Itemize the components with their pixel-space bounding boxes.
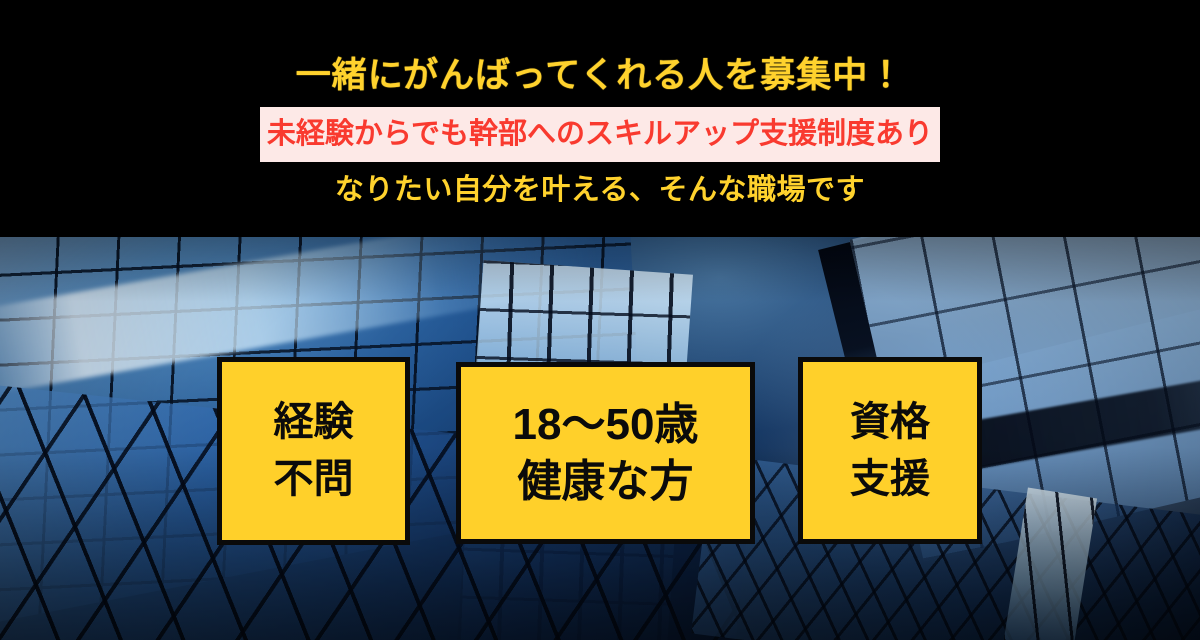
condition-box-experience-line-2: 不問 <box>274 457 354 502</box>
headline-tertiary: なりたい自分を叶える、そんな職場です <box>335 176 865 205</box>
condition-box-experience-line-1: 経験 <box>274 400 354 445</box>
headline-highlight-band: 未経験からでも幹部へのスキルアップ支援制度あり <box>260 107 940 162</box>
headline-primary: 一緒にがんばってくれる人を募集中！ <box>296 58 905 93</box>
condition-box-experience: 経験 不問 <box>217 357 410 545</box>
condition-box-qualification-support: 資格 支援 <box>798 357 982 544</box>
condition-box-qualification-support-line-1: 資格 <box>850 400 930 445</box>
headline-secondary: 未経験からでも幹部へのスキルアップ支援制度あり <box>267 120 933 149</box>
headline-block: 一緒にがんばってくれる人を募集中！ 未経験からでも幹部へのスキルアップ支援制度あ… <box>0 0 1200 237</box>
condition-box-qualification-support-line-2: 支援 <box>850 457 930 502</box>
recruit-banner: 一緒にがんばってくれる人を募集中！ 未経験からでも幹部へのスキルアップ支援制度あ… <box>0 0 1200 640</box>
condition-box-age-health-line-1: 18〜50歳 <box>513 400 699 449</box>
condition-box-age-health: 18〜50歳 健康な方 <box>456 362 755 544</box>
condition-box-age-health-line-2: 健康な方 <box>518 457 694 506</box>
